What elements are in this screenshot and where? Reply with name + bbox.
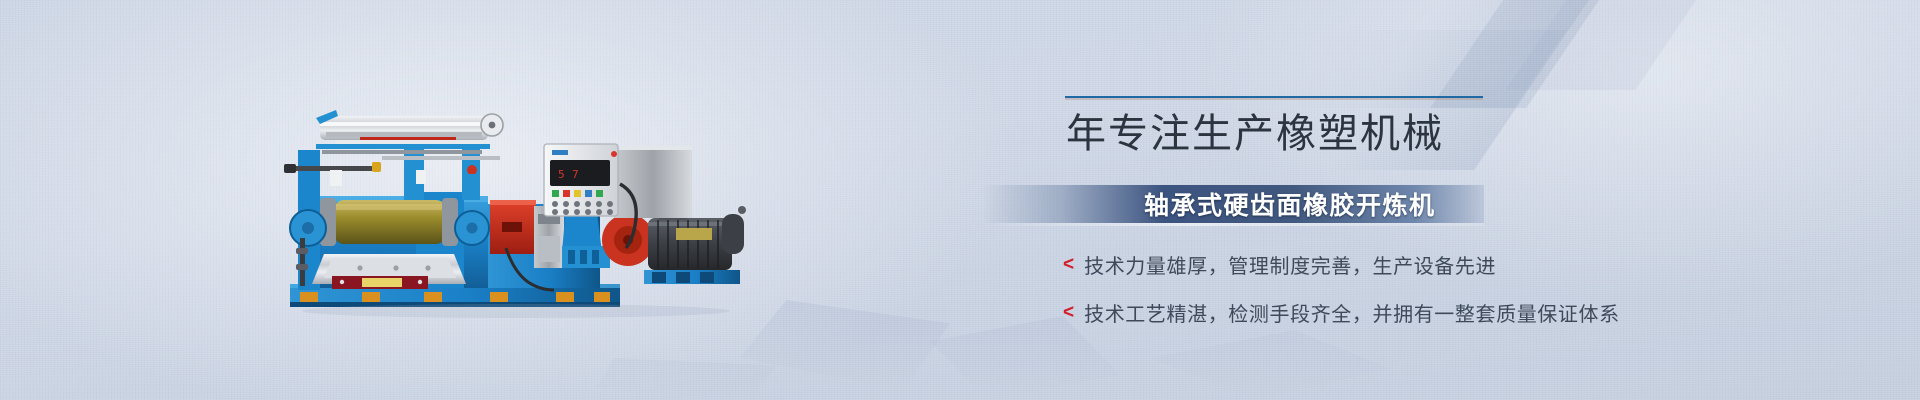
svg-text:7: 7 — [572, 168, 579, 181]
chevron-left-icon: < — [1063, 303, 1074, 322]
promo-banner: 5 7 — [0, 0, 1920, 400]
banner-text-column: 年专注生产橡塑机械 轴承式硬齿面橡胶开炼机 < 技术力量雄厚，管理制度完善，生产… — [1060, 96, 1760, 154]
svg-text:5: 5 — [558, 168, 565, 181]
accent-rule — [1065, 96, 1483, 100]
accent-rule-bottom — [1065, 98, 1483, 100]
product-image: 5 7 — [276, 88, 782, 320]
decor-quad-1 — [1430, 0, 1606, 108]
chevron-left-icon: < — [1063, 255, 1074, 274]
list-item: < 技术力量雄厚，管理制度完善，生产设备先进 — [1063, 250, 1620, 279]
feature-text: 技术力量雄厚，管理制度完善，生产设备先进 — [1084, 250, 1496, 279]
feature-list: < 技术力量雄厚，管理制度完善，生产设备先进 < 技术工艺精湛，检测手段齐全，并… — [1063, 250, 1620, 346]
list-item: < 技术工艺精湛，检测手段齐全，并拥有一整套质量保证体系 — [1063, 298, 1620, 327]
product-title-bar: 轴承式硬齿面橡胶开炼机 — [982, 185, 1484, 223]
decor-quad-2 — [1505, 0, 1736, 90]
feature-text: 技术工艺精湛，检测手段齐全，并拥有一整套质量保证体系 — [1084, 298, 1620, 327]
decor-facet-4 — [596, 358, 776, 400]
product-title: 轴承式硬齿面橡胶开炼机 — [1144, 186, 1436, 222]
page-title: 年专注生产橡塑机械 — [1066, 114, 1760, 154]
